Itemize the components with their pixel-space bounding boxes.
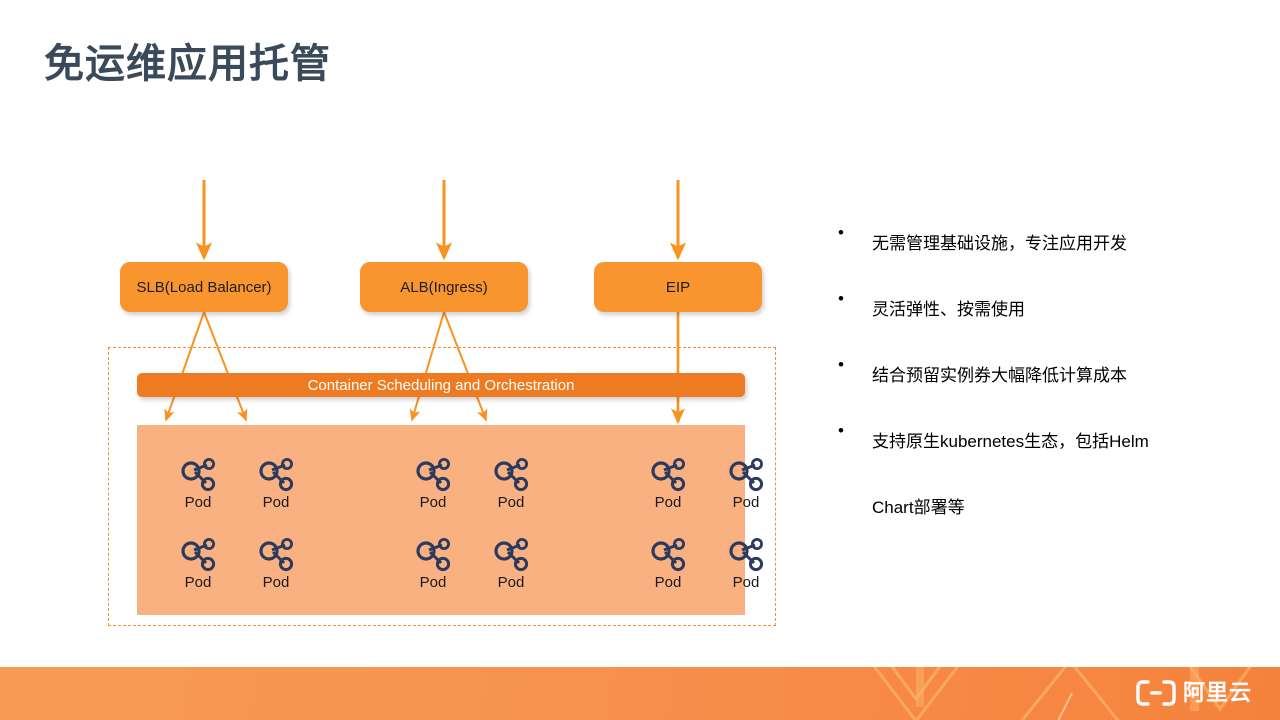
footer-bar: 阿里云 — [0, 667, 1280, 720]
pod-group: Pod Pod — [172, 538, 302, 618]
bullet-item: • 无需管理基础设施，专注应用开发 — [838, 222, 1258, 266]
orchestration-bar: Container Scheduling and Orchestration — [137, 373, 745, 397]
bullet-text: Chart部署等 — [872, 486, 965, 530]
bullet-marker-icon: • — [838, 354, 872, 376]
pod-icon — [180, 538, 216, 572]
alibaba-cloud-logo: 阿里云 — [1136, 679, 1252, 707]
pod-label: Pod — [420, 575, 447, 590]
bullet-item: • 结合预留实例券大幅降低计算成本 — [838, 354, 1258, 398]
pod-item[interactable]: Pod — [250, 458, 302, 538]
bullet-text: 支持原生kubernetes生态，包括Helm — [872, 420, 1149, 464]
pod-label: Pod — [185, 575, 212, 590]
bullet-text: 结合预留实例券大幅降低计算成本 — [872, 354, 1127, 398]
bullet-text: 无需管理基础设施，专注应用开发 — [872, 222, 1127, 266]
bullet-marker-icon: • — [838, 288, 872, 310]
bullet-item: • 支持原生kubernetes生态，包括Helm — [838, 420, 1258, 464]
pod-icon — [180, 458, 216, 492]
pod-label: Pod — [655, 495, 682, 510]
pod-icon — [415, 538, 451, 572]
node-box-slb-label: SLB(Load Balancer) — [136, 279, 271, 296]
pod-icon — [728, 458, 764, 492]
pod-item[interactable]: Pod — [642, 458, 694, 538]
pod-item[interactable]: Pod — [407, 538, 459, 618]
pod-label: Pod — [498, 495, 525, 510]
pod-icon — [415, 458, 451, 492]
pod-label: Pod — [420, 495, 447, 510]
pod-label: Pod — [263, 575, 290, 590]
pod-row: Pod Pod — [137, 458, 745, 538]
pod-group: Pod Pod — [642, 458, 772, 538]
pod-item[interactable]: Pod — [485, 458, 537, 538]
pod-item[interactable]: Pod — [172, 458, 224, 538]
bullet-item-continuation: Chart部署等 — [838, 486, 1258, 530]
pod-panel: Pod Pod — [137, 425, 745, 615]
node-box-alb[interactable]: ALB(Ingress) — [360, 262, 528, 312]
feature-bullet-list: • 无需管理基础设施，专注应用开发 • 灵活弹性、按需使用 • 结合预留实例券大… — [838, 222, 1258, 552]
pod-row: Pod Pod — [137, 538, 745, 618]
orchestration-bar-label: Container Scheduling and Orchestration — [308, 377, 575, 394]
pod-item[interactable]: Pod — [720, 538, 772, 618]
pod-label: Pod — [655, 575, 682, 590]
alibaba-cloud-bracket-icon — [1136, 679, 1176, 707]
pod-group: Pod Pod — [407, 538, 537, 618]
logo-text: 阿里云 — [1183, 682, 1252, 704]
node-box-eip[interactable]: EIP — [594, 262, 762, 312]
pod-group: Pod Pod — [642, 538, 772, 618]
pod-label: Pod — [263, 495, 290, 510]
pod-icon — [650, 538, 686, 572]
bullet-marker-icon: • — [838, 222, 872, 244]
node-box-alb-label: ALB(Ingress) — [400, 279, 488, 296]
pod-item[interactable]: Pod — [720, 458, 772, 538]
bullet-item: • 灵活弹性、按需使用 — [838, 288, 1258, 332]
pod-group: Pod Pod — [407, 458, 537, 538]
pod-label: Pod — [185, 495, 212, 510]
node-box-eip-label: EIP — [666, 279, 690, 296]
pod-group: Pod Pod — [172, 458, 302, 538]
pod-icon — [650, 458, 686, 492]
bullet-marker-icon: • — [838, 420, 872, 442]
bullet-text: 灵活弹性、按需使用 — [872, 288, 1025, 332]
pod-label: Pod — [498, 575, 525, 590]
node-box-slb[interactable]: SLB(Load Balancer) — [120, 262, 288, 312]
pod-icon — [493, 538, 529, 572]
pod-icon — [258, 458, 294, 492]
pod-item[interactable]: Pod — [172, 538, 224, 618]
pod-icon — [258, 538, 294, 572]
pod-icon — [493, 458, 529, 492]
pod-item[interactable]: Pod — [250, 538, 302, 618]
pod-item[interactable]: Pod — [485, 538, 537, 618]
pod-item[interactable]: Pod — [642, 538, 694, 618]
pod-icon — [728, 538, 764, 572]
pod-label: Pod — [733, 575, 760, 590]
pod-label: Pod — [733, 495, 760, 510]
pod-item[interactable]: Pod — [407, 458, 459, 538]
architecture-diagram: SLB(Load Balancer) ALB(Ingress) EIP Cont… — [0, 0, 820, 660]
